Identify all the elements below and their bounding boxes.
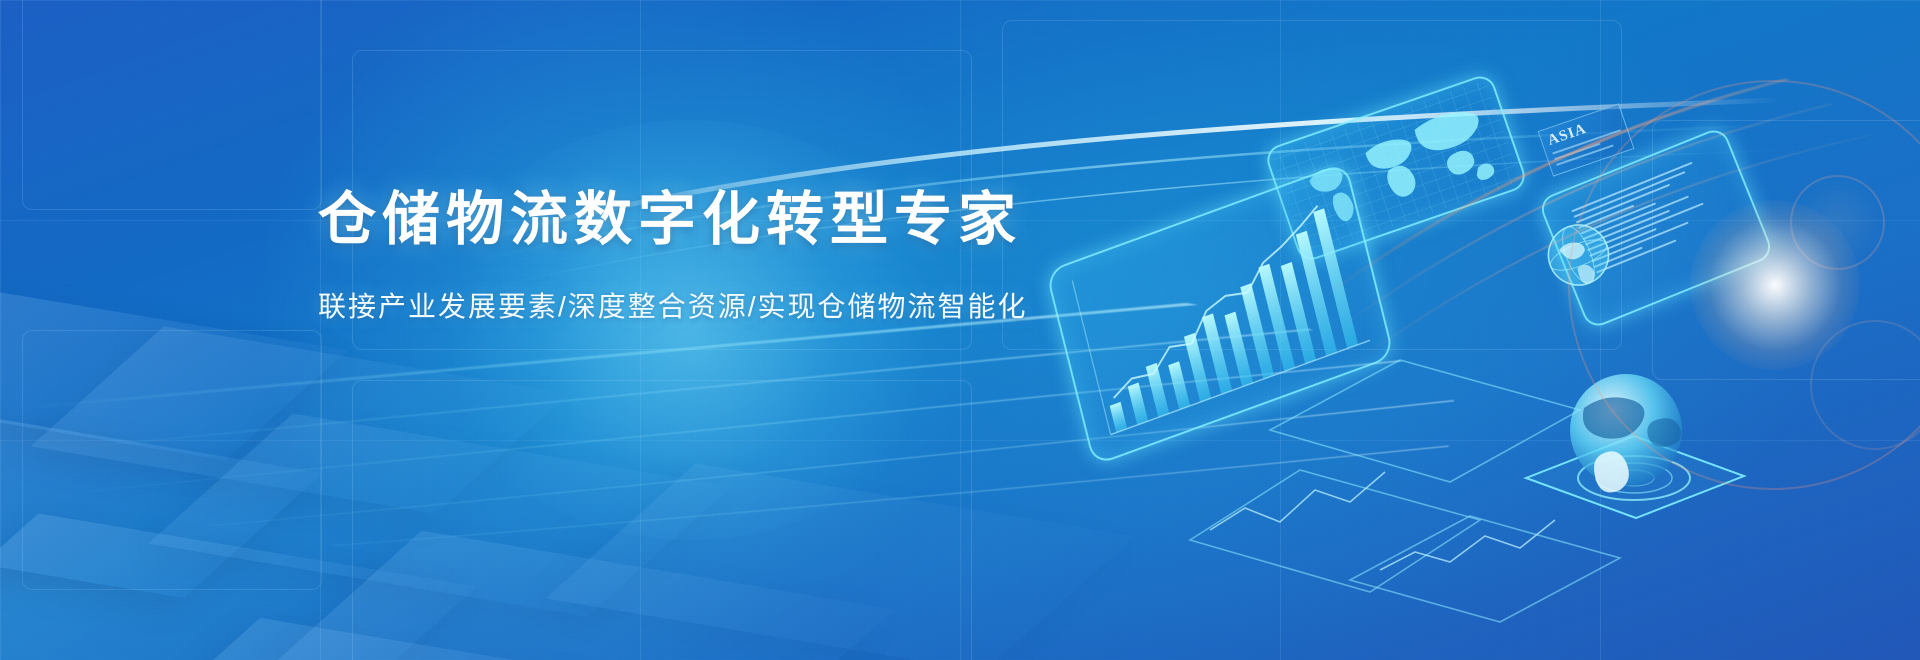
plate [31, 326, 569, 513]
data-text-panel [1537, 126, 1775, 331]
bar-chart-icon [1045, 162, 1394, 467]
page-title: 仓储物流数字化转型专家 [318, 190, 998, 251]
grid-box-right [1002, 20, 1622, 350]
line-chart-icon [1210, 472, 1555, 570]
warm-light-streaks [1180, 30, 1920, 450]
plate [94, 618, 767, 660]
chart-bar [1258, 264, 1295, 372]
chart-bar [1224, 312, 1253, 387]
chart-bar [1313, 208, 1358, 348]
world-map-icon [1303, 104, 1498, 234]
plate [148, 413, 731, 616]
globe-icon [1570, 374, 1682, 492]
plate [266, 531, 894, 660]
data-readout-lines [1571, 162, 1719, 277]
chart-bar [1184, 333, 1211, 402]
globe-icon [1526, 203, 1630, 307]
banner-text-block: 仓储物流数字化转型专家 联接产业发展要素/深度整合资源/实现仓储物流智能化 [318, 190, 998, 325]
noise-overlay [0, 0, 1920, 660]
grid-box-left [22, 330, 322, 590]
asia-label: ASIA [1546, 121, 1589, 150]
chart-bar [1202, 313, 1232, 394]
hero-banner: ASIA [0, 0, 1920, 660]
chart-bar [1281, 262, 1316, 364]
chart-bar [1146, 363, 1169, 417]
lens-flare-ring [1790, 175, 1885, 270]
asia-label-tag: ASIA [1538, 103, 1635, 176]
world-map-panel [1263, 72, 1529, 264]
plate [0, 290, 348, 460]
lens-flare-icon [1690, 200, 1860, 370]
plate [546, 463, 1135, 660]
bar-chart-panel [1045, 162, 1394, 467]
chart-bar [1128, 382, 1149, 425]
grid-box-topleft [22, 0, 322, 210]
chart-bar [1296, 231, 1337, 357]
page-subtitle: 联接产业发展要素/深度整合资源/实现仓储物流智能化 [318, 285, 998, 325]
grid-box-farright [1652, 120, 1920, 380]
background-grid [0, 0, 1920, 660]
center-glow [430, 120, 950, 540]
plate [0, 407, 323, 598]
lens-flare-ring [1568, 80, 1920, 490]
platform-base [1526, 436, 1744, 518]
plate [0, 513, 477, 660]
chart-bar [1240, 283, 1274, 379]
isometric-plates [0, 300, 1030, 660]
chart-bar [1110, 402, 1128, 433]
wireframe-panels [1150, 330, 1650, 630]
globe-platform-panel [1506, 358, 1766, 528]
chart-bar [1168, 361, 1190, 409]
lens-flare-ring [1810, 320, 1920, 450]
grid-box-lower [352, 380, 972, 660]
